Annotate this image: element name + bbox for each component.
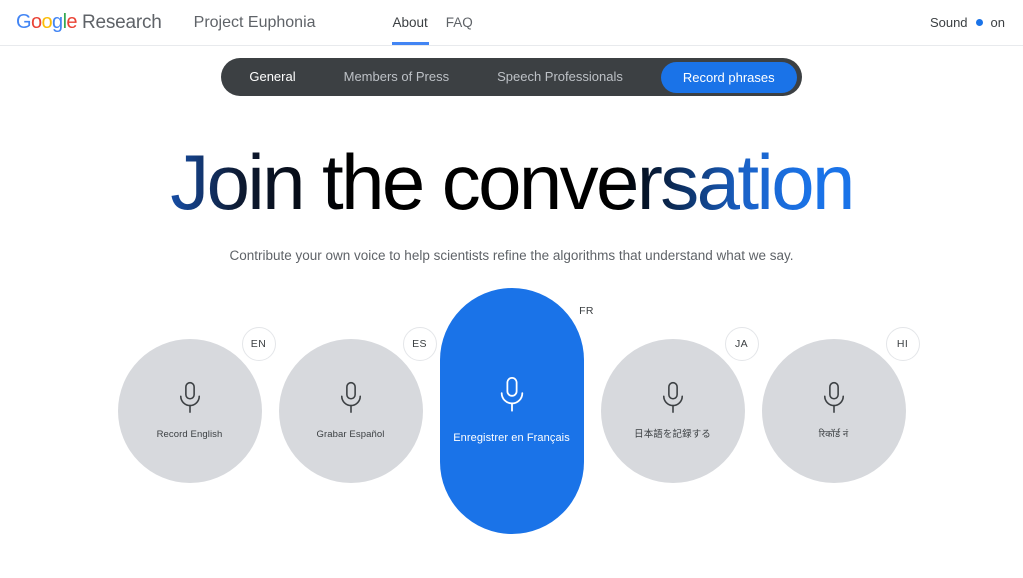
- nav-item-faq[interactable]: FAQ: [437, 0, 482, 45]
- brand-research-label: Research: [82, 12, 162, 34]
- language-code-badge: JA: [725, 327, 759, 361]
- microphone-icon: [175, 381, 205, 415]
- tab-general[interactable]: General: [225, 62, 319, 92]
- sound-label: Sound: [930, 15, 968, 30]
- tab-members-of-press[interactable]: Members of Press: [320, 62, 473, 92]
- project-title: Project Euphonia: [194, 14, 316, 32]
- microphone-icon: [495, 376, 529, 414]
- language-card-label: Record English: [157, 429, 223, 440]
- google-logo: Google: [16, 11, 77, 34]
- hero-section: Join the conversation Contribute your ow…: [0, 143, 1023, 263]
- language-card-row: Record English EN Grabar Español ES Enre…: [0, 281, 1023, 541]
- language-card-es[interactable]: Grabar Español ES: [279, 339, 423, 483]
- sound-state-label: on: [991, 15, 1005, 30]
- segmented-nav-wrap: General Members of Press Speech Professi…: [0, 58, 1023, 96]
- language-card-en[interactable]: Record English EN: [118, 339, 262, 483]
- segmented-nav: General Members of Press Speech Professi…: [221, 58, 801, 96]
- microphone-icon: [658, 381, 688, 415]
- microphone-icon: [336, 381, 366, 415]
- language-card-fr[interactable]: Enregistrer en Français FR: [440, 288, 584, 534]
- language-code-badge: FR: [570, 294, 604, 328]
- language-card-ja[interactable]: 日本語を記録する JA: [601, 339, 745, 483]
- language-card-label: 日本語を記録する: [634, 429, 711, 440]
- record-phrases-button[interactable]: Record phrases: [661, 62, 797, 93]
- brand-lockup[interactable]: Google Research: [16, 11, 162, 34]
- sound-toggle[interactable]: Sound on: [930, 15, 1005, 30]
- language-card-label: Enregistrer en Français: [453, 432, 570, 445]
- header-nav: About FAQ: [384, 0, 482, 45]
- hero-subtitle: Contribute your own voice to help scient…: [0, 248, 1023, 263]
- language-card-label: Grabar Español: [317, 429, 385, 440]
- language-code-badge: HI: [886, 327, 920, 361]
- microphone-icon: [819, 381, 849, 415]
- sound-status-dot: [976, 19, 983, 26]
- language-card-hi[interactable]: रिकॉर्ड नं HI: [762, 339, 906, 483]
- tab-speech-professionals[interactable]: Speech Professionals: [473, 62, 647, 92]
- page-title: Join the conversation: [170, 143, 853, 221]
- language-code-badge: ES: [403, 327, 437, 361]
- language-code-badge: EN: [242, 327, 276, 361]
- language-card-label: रिकॉर्ड नं: [819, 429, 849, 440]
- site-header: Google Research Project Euphonia About F…: [0, 0, 1023, 46]
- nav-item-about[interactable]: About: [384, 0, 437, 45]
